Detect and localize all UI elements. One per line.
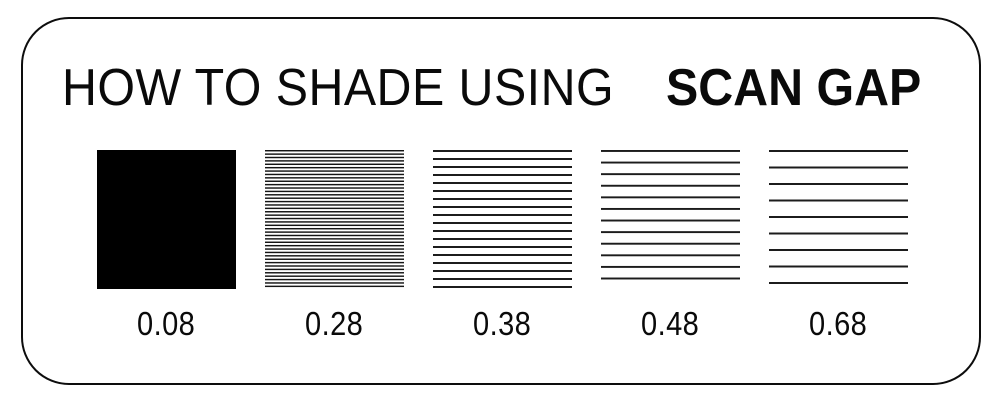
swatch-cell-4: 0.68 <box>768 150 908 340</box>
swatch-fill-0-08 <box>97 150 236 289</box>
swatch-cell-0: 0.08 <box>96 150 236 340</box>
swatch-fill-0-38 <box>433 150 572 289</box>
swatch-fill-0-68 <box>769 150 908 289</box>
info-card: HOW TO SHADE USINGSCAN GAP 0.08 0.28 0.3… <box>21 17 981 385</box>
page-title: HOW TO SHADE USINGSCAN GAP <box>23 62 979 114</box>
swatch-label-0-48: 0.48 <box>641 307 699 340</box>
title-light-text: HOW TO SHADE USING <box>62 62 614 114</box>
swatch-fill-0-48 <box>601 150 740 289</box>
swatch-cell-3: 0.48 <box>600 150 740 340</box>
swatch-label-0-08: 0.08 <box>137 307 195 340</box>
swatch-cell-1: 0.28 <box>264 150 404 340</box>
swatch-fill-0-28 <box>265 150 404 289</box>
scan-gap-swatch-row: 0.08 0.28 0.38 0.48 0.68 <box>96 150 908 350</box>
title-bold-text: SCAN GAP <box>666 62 921 114</box>
swatch-cell-2: 0.38 <box>432 150 572 340</box>
swatch-label-0-68: 0.68 <box>809 307 867 340</box>
swatch-label-0-38: 0.38 <box>473 307 531 340</box>
swatch-label-0-28: 0.28 <box>305 307 363 340</box>
